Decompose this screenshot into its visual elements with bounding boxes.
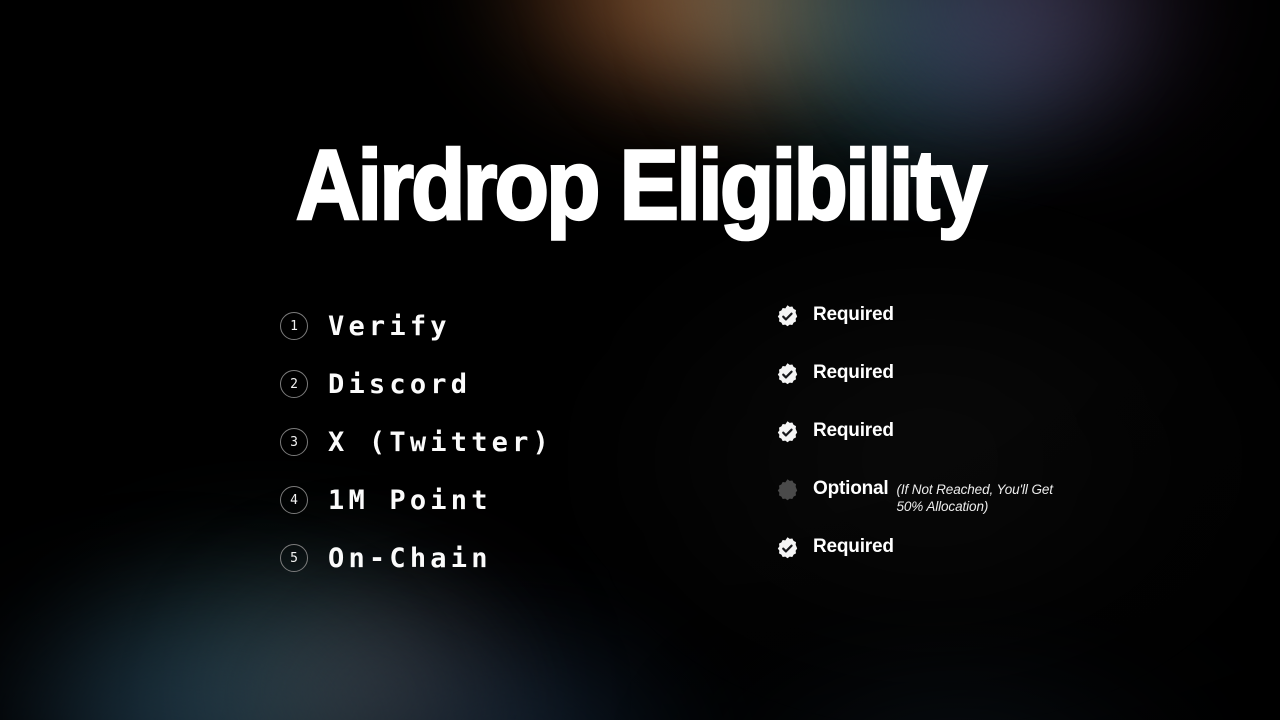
status-note-line-2: 50% Allocation) [896,498,1072,515]
eligibility-checklist: 1 Verify Required 2 Disc [280,304,1140,594]
status-badge: Required [813,302,894,328]
list-item[interactable]: 3 X (Twitter) Required [280,420,1140,478]
step-number-badge: 4 [280,486,308,514]
list-item[interactable]: 4 1M Point Optional (If Not Reached, You… [280,478,1140,536]
status-badge: Required [813,418,894,444]
step-label: On-Chain [328,545,492,572]
step-label: Discord [328,371,471,398]
status-note-line-1: (If Not Reached, You'll Get [896,482,1052,497]
slide-content: Airdrop Eligibility 1 Verify Required [0,0,1280,720]
list-item[interactable]: 5 On-Chain Required [280,536,1140,594]
step-left-group: 2 Discord [280,362,471,406]
verified-check-badge-icon [775,362,800,387]
step-label: Verify [328,313,451,340]
step-number-badge: 2 [280,370,308,398]
list-item[interactable]: 2 Discord Required [280,362,1140,420]
step-status-group: Required [775,418,894,452]
status-badge: Required [813,534,894,560]
step-status-group: Required [775,302,894,336]
step-label: X (Twitter) [328,429,553,456]
verified-check-badge-icon [775,304,800,329]
status-badge: Required [813,360,894,386]
verified-check-badge-icon [775,536,800,561]
step-left-group: 3 X (Twitter) [280,420,553,464]
step-label: 1M Point [328,487,492,514]
step-status-group: Required [775,534,894,568]
step-status-group: Required [775,360,894,394]
empty-badge-icon [775,478,800,503]
list-item[interactable]: 1 Verify Required [280,304,1140,362]
step-left-group: 1 Verify [280,304,451,348]
step-number-badge: 5 [280,544,308,572]
page-title: Airdrop Eligibility [19,136,1261,235]
slide-canvas: Airdrop Eligibility 1 Verify Required [0,0,1280,720]
step-left-group: 5 On-Chain [280,536,492,580]
status-badge: Optional [813,476,888,502]
step-number-badge: 1 [280,312,308,340]
step-number-badge: 3 [280,428,308,456]
step-left-group: 4 1M Point [280,478,492,522]
verified-check-badge-icon [775,420,800,445]
status-note: (If Not Reached, You'll Get 50% Allocati… [896,476,1072,515]
step-status-group: Optional (If Not Reached, You'll Get 50%… [775,476,1072,510]
